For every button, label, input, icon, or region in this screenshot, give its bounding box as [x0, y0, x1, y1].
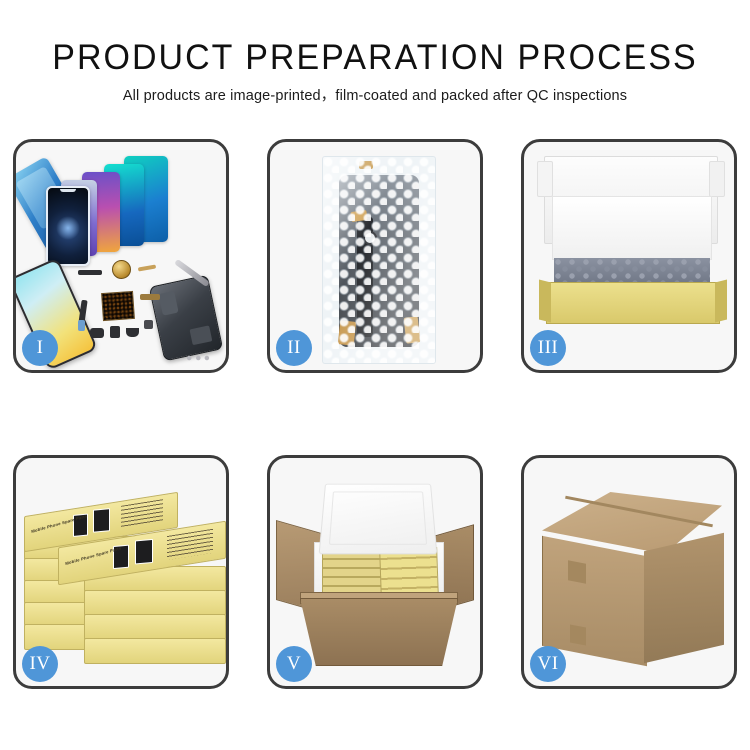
carton-side-face: [644, 533, 724, 663]
header: PRODUCT PREPARATION PROCESS All products…: [0, 0, 750, 105]
steps-grid: I II: [13, 139, 737, 689]
step-badge-4: IV: [22, 646, 58, 682]
stacked-box: [84, 614, 226, 640]
carton-front-face: [542, 536, 647, 666]
stacked-box: [84, 590, 226, 616]
foam-box-lid: [319, 484, 438, 555]
yellow-box-body: [546, 282, 720, 324]
vibration-motor-part: [112, 260, 131, 279]
step-panel-1: I: [13, 139, 229, 373]
step-panel-4: Mobile Phone Spare Parts Mobile Phone Sp…: [13, 455, 229, 689]
step-panel-2: II: [267, 139, 483, 373]
carton-front: [300, 598, 458, 666]
page-title: PRODUCT PREPARATION PROCESS: [11, 38, 739, 78]
step-panel-6: VI: [521, 455, 737, 689]
chip-array-part: [101, 291, 135, 321]
step-panel-3: III: [521, 139, 737, 373]
box-stack: Mobile Phone Spare Parts Mobile Phone Sp…: [24, 480, 224, 670]
step-panel-5: V: [267, 455, 483, 689]
connector-part: [140, 294, 160, 300]
sim-tray-part: [78, 320, 85, 331]
step-badge-6: VI: [530, 646, 566, 682]
carton-tab: [570, 624, 586, 645]
plastic-sheen: [323, 157, 435, 363]
stacked-box: [84, 638, 226, 664]
small-component-part: [90, 328, 104, 338]
step-badge-2: II: [276, 330, 312, 366]
foam-sheet: [552, 196, 712, 260]
step-badge-5: V: [276, 646, 312, 682]
box-window: [93, 508, 110, 533]
small-component-part: [144, 320, 153, 329]
carton-tab: [568, 560, 586, 583]
box-text-lines: [167, 529, 213, 560]
step-badge-3: III: [530, 330, 566, 366]
flex-cable-part: [78, 270, 102, 275]
connector-part: [138, 264, 156, 271]
step-badge-1: I: [22, 330, 58, 366]
small-component-part: [110, 326, 120, 338]
box-window: [135, 539, 153, 565]
box-text-lines: [121, 499, 163, 528]
phone-back-housing: [149, 275, 223, 362]
tempered-glass-panel: [46, 186, 90, 266]
phone-notch: [60, 189, 76, 192]
page-subtitle: All products are image-printed，film-coat…: [0, 87, 750, 105]
screws-group: [184, 354, 210, 362]
speaker-part: [126, 328, 139, 337]
bubble-wrap-bag: [322, 156, 436, 364]
product-preparation-infographic: PRODUCT PREPARATION PROCESS All products…: [0, 0, 750, 750]
